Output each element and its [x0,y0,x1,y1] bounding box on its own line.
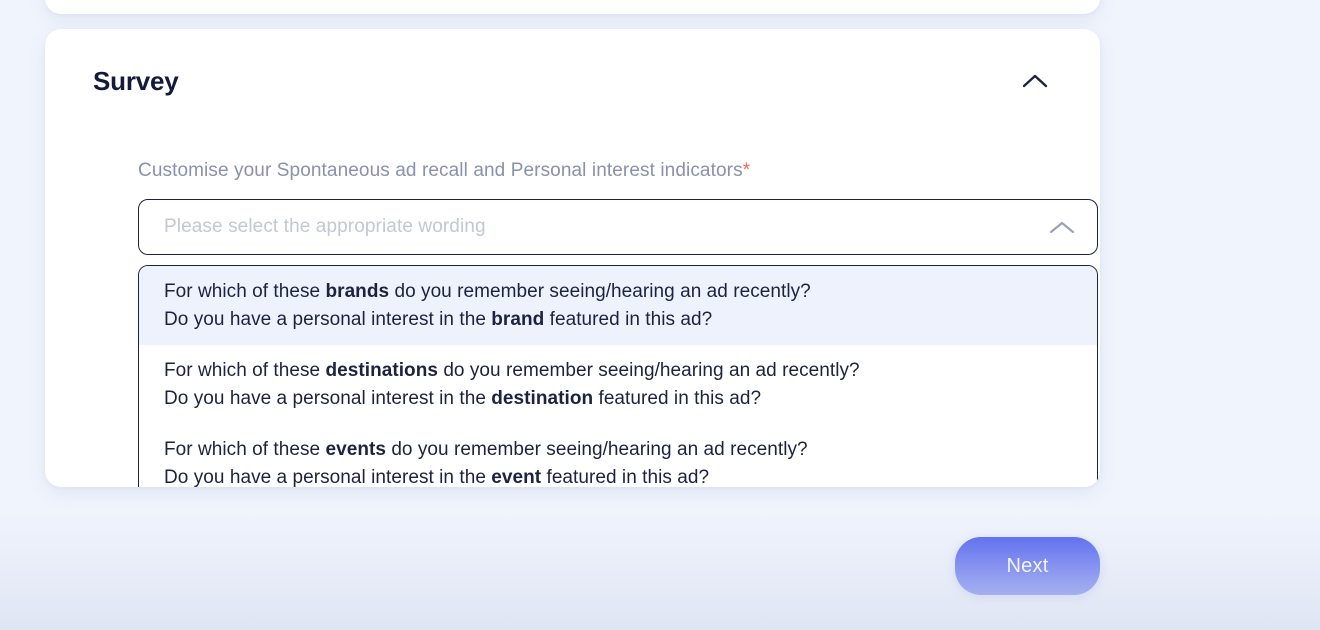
option-text-bold: destinations [325,360,438,381]
next-button[interactable]: Next [955,537,1100,595]
dropdown-option-line-1: For which of these destinations do you r… [164,357,1072,385]
page-root: Survey Customise your Spontaneous ad rec… [0,0,1320,630]
required-asterisk: * [743,160,751,181]
option-text-pre: For which of these [164,439,325,460]
option-text-post: featured in this ad? [593,388,761,409]
option-text-post: featured in this ad? [544,309,712,330]
chevron-up-icon [1049,220,1075,235]
wording-select[interactable]: Please select the appropriate wording [138,199,1098,255]
dropdown-option[interactable]: For which of these destinations do you r… [139,345,1097,424]
field-label-text: Customise your Spontaneous ad recall and… [138,160,743,181]
option-text-bold: destination [491,388,593,409]
chevron-up-icon [1022,73,1048,89]
option-text-post: do you remember seeing/hearing an ad rec… [386,439,808,460]
survey-card-header: Survey [45,29,1100,133]
select-placeholder: Please select the appropriate wording [164,216,486,238]
dropdown-option-line-1: For which of these brands do you remembe… [164,278,1072,306]
page-title: Survey [93,66,179,97]
dropdown-option-line-1: For which of these events do you remembe… [164,436,1072,464]
field-label: Customise your Spontaneous ad recall and… [138,160,750,182]
option-text-pre: For which of these [164,360,325,381]
collapse-section-button[interactable] [1018,64,1052,98]
option-text-bold: events [325,439,386,460]
wording-options-dropdown[interactable]: For which of these brands do you remembe… [138,265,1098,487]
option-text-post: featured in this ad? [541,467,709,487]
option-text-pre: Do you have a personal interest in the [164,388,491,409]
option-text-post: do you remember seeing/hearing an ad rec… [389,281,811,302]
option-text-pre: For which of these [164,281,325,302]
previous-section-card [45,0,1100,14]
option-text-bold: event [491,467,541,487]
dropdown-option-line-2: Do you have a personal interest in the b… [164,306,1072,334]
option-text-post: do you remember seeing/hearing an ad rec… [438,360,860,381]
footer-gradient [0,510,1320,630]
survey-section-card: Survey Customise your Spontaneous ad rec… [45,29,1100,487]
dropdown-option[interactable]: For which of these events do you remembe… [139,424,1097,487]
dropdown-option-line-2: Do you have a personal interest in the e… [164,464,1072,487]
option-text-bold: brands [325,281,389,302]
option-text-pre: Do you have a personal interest in the [164,467,491,487]
dropdown-option[interactable]: For which of these brands do you remembe… [139,266,1097,345]
option-text-pre: Do you have a personal interest in the [164,309,491,330]
dropdown-option-line-2: Do you have a personal interest in the d… [164,385,1072,413]
option-text-bold: brand [491,309,544,330]
